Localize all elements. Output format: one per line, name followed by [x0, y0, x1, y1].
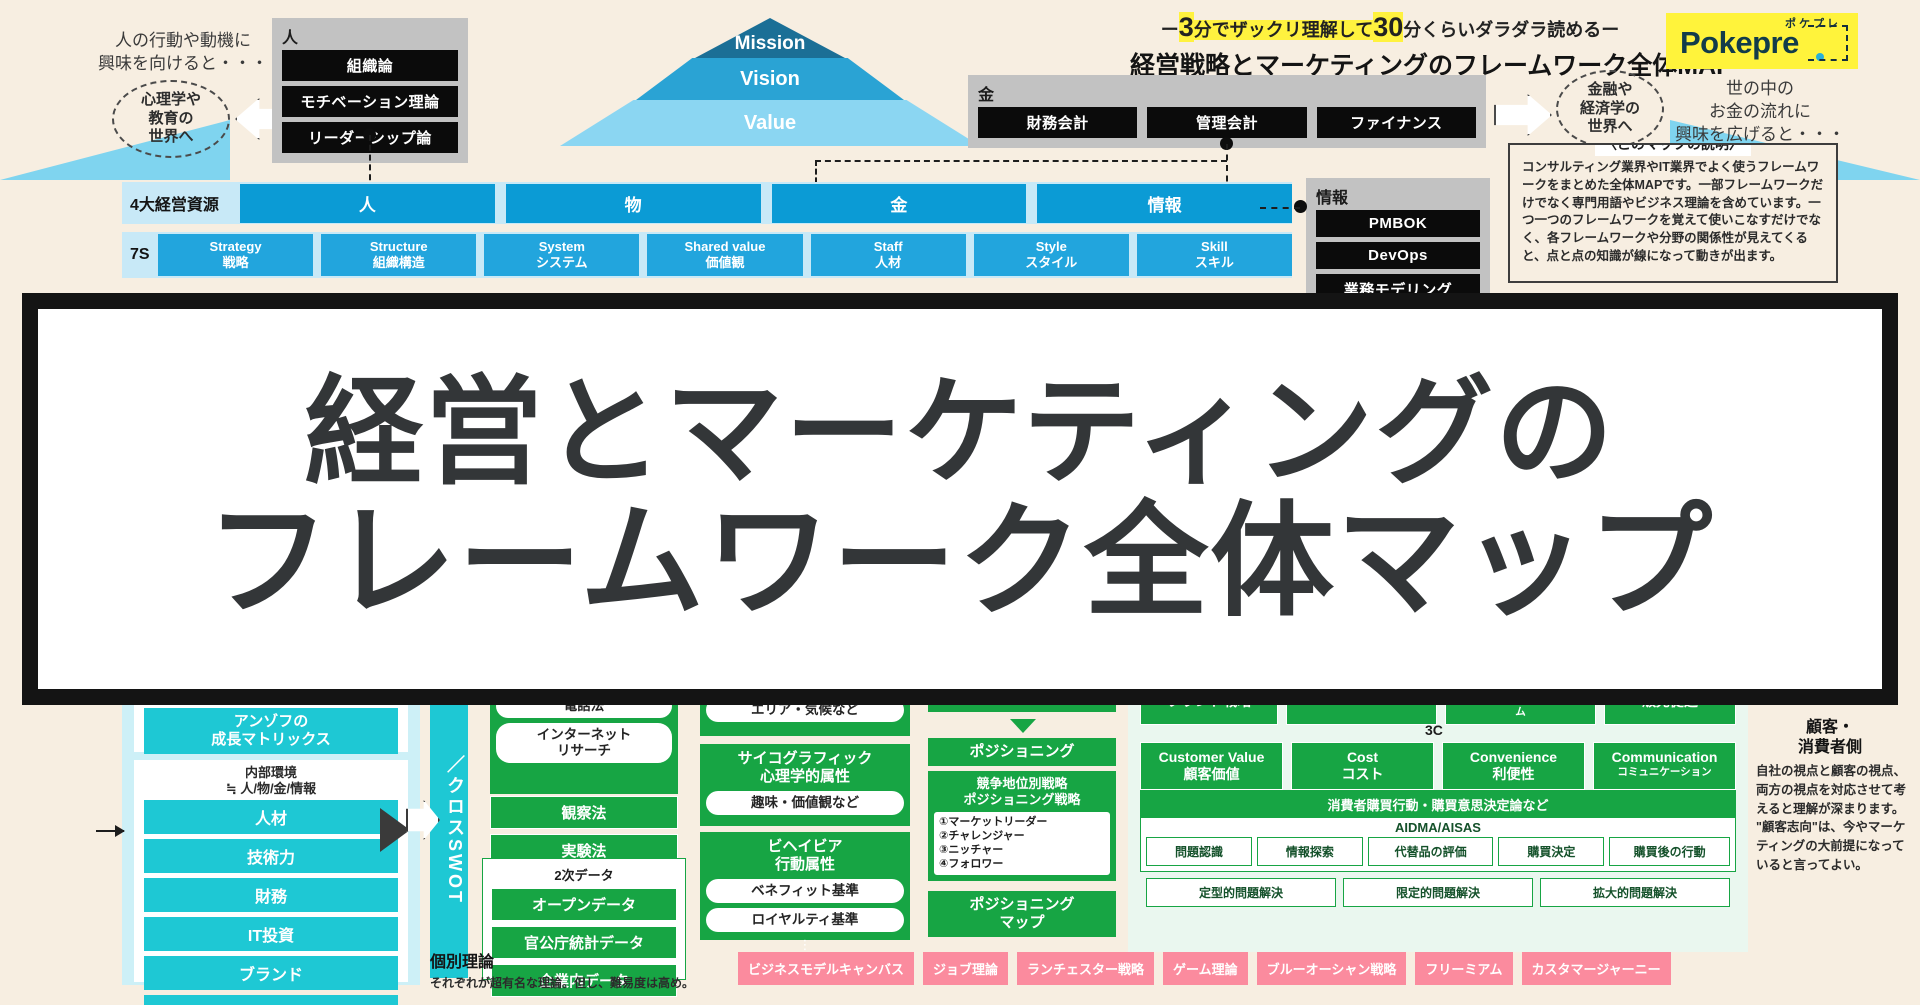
seven-s-cell-strategy[interactable]: Strategy 戦略: [158, 234, 313, 277]
consumer-steps-row: 問題認識 情報探索 代替品の評価 購買決定 購買後の行動: [1141, 837, 1735, 866]
overlay-title-line1: 経営とマーケティングの: [305, 371, 1616, 494]
cross-swot-bar[interactable]: ／クロスSWOT: [430, 678, 468, 978]
internal-item-brand[interactable]: ブランド: [144, 956, 398, 990]
chip-ansoff-matrix[interactable]: アンゾフの 成長マトリックス: [144, 708, 398, 754]
box-convenience[interactable]: Convenience 利便性: [1442, 742, 1585, 790]
connector-line-money-h: [815, 160, 1227, 162]
band-label-seven-s: 7S: [122, 246, 158, 264]
individual-theories-sub: それぞれが超有名な理論。但し、難易度は高め。: [430, 974, 694, 991]
seven-s-band: 7S Strategy 戦略 Structure 組織構造 System システ…: [122, 232, 1292, 278]
positioning-map-card[interactable]: ポジショニング マップ: [928, 891, 1116, 937]
box-cost[interactable]: Cost コスト: [1291, 742, 1434, 790]
chip-lanchester-strategy[interactable]: ランチェスター戦略: [1017, 952, 1154, 985]
competitive-position-card: 競争地位別戦略 ポジショニング戦略 ①マーケットリーダー ②チャレンジャー ③ニ…: [928, 771, 1116, 881]
box-customer-value[interactable]: Customer Value 顧客価値: [1140, 742, 1283, 790]
resource-cell-money[interactable]: 金: [772, 184, 1027, 223]
header-tagline: ー3分でザックリ理解して30分くらいダラダラ読めるー: [1130, 12, 1650, 43]
logo-wordmark: Pokepre: [1680, 25, 1799, 61]
pill-hobby-values[interactable]: 趣味・価値観など: [706, 791, 904, 815]
chip-zaimu-kaikei[interactable]: 財務会計: [978, 107, 1137, 138]
seven-s-cell-shared-value[interactable]: Shared value 価値観: [647, 234, 802, 277]
triangle-down-positioning-icon: [1010, 719, 1036, 733]
problem-solving-row: 定型的問題解決 限定的問題解決 拡大的問題解決: [1146, 878, 1730, 907]
pyramid-vision: Vision: [636, 58, 904, 100]
internal-item-gijutsu[interactable]: 技術力: [144, 839, 398, 873]
internal-environment-caption: 内部環境 ≒ 人/物/金/情報: [144, 762, 398, 800]
competitive-position-list: ①マーケットリーダー ②チャレンジャー ③ニッチャー ④フォロワー: [933, 811, 1111, 875]
pill-internet-research[interactable]: インターネット リサーチ: [496, 723, 672, 763]
behavior-title: ビヘイビア 行動属性: [706, 838, 904, 879]
internal-item-zaimu[interactable]: 財務: [144, 878, 398, 912]
group-label-money: 金: [978, 81, 1476, 105]
triangle-to-cross-swot-icon: [380, 808, 410, 852]
tagline-mid-2: 分くらいダラダラ読めるー: [1403, 20, 1619, 40]
step-purchase-decision[interactable]: 購買決定: [1498, 837, 1604, 866]
internal-environment-panel: アンゾフの 成長マトリックス 内部環境 ≒ 人/物/金/情報 人材 技術力 財務…: [122, 700, 420, 985]
customer-side-title: 顧客・ 消費者側: [1762, 718, 1898, 758]
positioning-block: ポジショニング 競争地位別戦略 ポジショニング戦略 ①マーケットリーダー ②チャ…: [928, 738, 1116, 937]
box-extended-problem-solving[interactable]: 拡大的問題解決: [1540, 878, 1730, 907]
overlay-title-line2: フレームワーク全体マップ: [206, 498, 1714, 627]
marketing-mix-row2: Customer Value 顧客価値 Cost コスト Convenience…: [1140, 742, 1736, 790]
internal-item-it-toushi[interactable]: IT投資: [144, 917, 398, 951]
internal-items-card: 内部環境 ≒ 人/物/金/情報 人材 技術力 財務 IT投資 ブランド カルチャ…: [134, 760, 408, 982]
psychographic-title: サイコグラフィック 心理学的属性: [706, 750, 904, 791]
label-3c: 3C: [1425, 722, 1443, 738]
step-information-search[interactable]: 情報探索: [1257, 837, 1363, 866]
left-note-bubble: 心理学や 教育の 世界へ: [112, 80, 230, 158]
chip-kanri-kaikei[interactable]: 管理会計: [1147, 107, 1306, 138]
logo-bracket-icon: [1808, 25, 1848, 61]
header-title-block: ー3分でザックリ理解して30分くらいダラダラ読めるー 経営戦略とマーケティングの…: [1130, 12, 1650, 82]
right-note-bubble: 金融や 経済学の 世界へ: [1556, 70, 1664, 148]
step-alternative-evaluation[interactable]: 代替品の評価: [1368, 837, 1494, 866]
chip-customer-journey[interactable]: カスタマージャーニー: [1522, 952, 1671, 985]
four-resources-band: 4大経営資源 人 物 金 情報: [122, 182, 1292, 224]
aidma-label: AIDMA/AISAS: [1141, 818, 1735, 837]
resource-cell-information[interactable]: 情報: [1037, 184, 1292, 223]
map-explanation-box: 〈このマップの説明〉 コンサルティング業界やIT業界でよく使うフレームワークをま…: [1508, 143, 1838, 283]
seven-s-cell-staff[interactable]: Staff 人材: [811, 234, 966, 277]
lower-diagram-region: アンゾフの 成長マトリックス 内部環境 ≒ 人/物/金/情報 人材 技術力 財務…: [0, 700, 1920, 1005]
chip-game-theory[interactable]: ゲーム理論: [1163, 952, 1248, 985]
box-routine-problem-solving[interactable]: 定型的問題解決: [1146, 878, 1336, 907]
resource-cell-things[interactable]: 物: [506, 184, 761, 223]
customer-side-body: 自社の視点と顧客の視点、両方の視点を対応させて考えると理解が深まります。 "顧客…: [1756, 762, 1908, 875]
chip-kansatsu-hou[interactable]: 観察法: [490, 796, 678, 829]
title-overlay-banner: 経営とマーケティングの フレームワーク全体マップ: [22, 293, 1898, 705]
step-problem-recognition[interactable]: 問題認識: [1146, 837, 1252, 866]
arrow-right-icon: [1494, 94, 1552, 136]
chip-finance[interactable]: ファイナンス: [1317, 107, 1476, 138]
chip-pmbok[interactable]: PMBOK: [1316, 210, 1480, 237]
connector-line-information: [1260, 207, 1300, 209]
seven-s-cell-style[interactable]: Style スタイル: [974, 234, 1129, 277]
group-label-people: 人: [282, 24, 458, 48]
tagline-mid-1: 分でザックリ理解して: [1194, 20, 1373, 40]
seven-s-cell-structure[interactable]: Structure 組織構造: [321, 234, 476, 277]
tagline-number-3: 3: [1179, 12, 1194, 42]
pill-loyalty-basis[interactable]: ロイヤルティ基準: [706, 908, 904, 932]
right-note-caption: 世の中の お金の流れに 興味を広げると・・・: [1670, 78, 1850, 147]
pill-benefit-basis[interactable]: ベネフィット基準: [706, 879, 904, 903]
individual-theories-label: 個別理論 それぞれが超有名な理論。但し、難易度は高め。: [430, 948, 694, 991]
chip-business-model-canvas[interactable]: ビジネスモデルキャンバス: [738, 952, 914, 985]
left-note-caption: 人の行動や動機に 興味を向けると・・・: [88, 30, 278, 76]
individual-theories-title: 個別理論: [430, 948, 694, 972]
pyramid-value: Value: [560, 100, 980, 146]
infographic-canvas: 人の行動や動機に 興味を向けると・・・ 心理学や 教育の 世界へ 人 組織論 モ…: [0, 0, 1920, 1005]
mission-vision-value-pyramid: Mission Vision Value: [560, 18, 980, 146]
chip-freemium[interactable]: フリーミアム: [1415, 952, 1512, 985]
chip-blue-ocean-strategy[interactable]: ブルーオーシャン戦略: [1257, 952, 1407, 985]
secondary-data-title: 2次データ: [491, 863, 677, 888]
map-explanation-body: コンサルティング業界やIT業界でよく使うフレームワークをまとめた全体MAPです。…: [1522, 159, 1826, 266]
step-post-purchase[interactable]: 購買後の行動: [1609, 837, 1730, 866]
box-communication[interactable]: Communication コミュニケーション: [1593, 742, 1736, 790]
psychographic-segment-panel: サイコグラフィック 心理学的属性 趣味・価値観など: [700, 744, 910, 826]
resource-cell-people[interactable]: 人: [240, 184, 495, 223]
internal-item-jinzai[interactable]: 人材: [144, 800, 398, 834]
seven-s-cell-skill[interactable]: Skill スキル: [1137, 234, 1292, 277]
behavior-ellipsis: ⋮: [706, 937, 904, 953]
competitive-position-title: 競争地位別戦略 ポジショニング戦略: [933, 776, 1111, 811]
chip-open-data[interactable]: オープンデータ: [491, 888, 677, 921]
pokepre-logo[interactable]: ポケプレ Pokepre: [1666, 13, 1858, 69]
individual-theories-chips: ビジネスモデルキャンバス ジョブ理論 ランチェスター戦略 ゲーム理論 ブルーオー…: [738, 952, 1671, 985]
consumer-behavior-header: 消費者購買行動・購買意思決定論など: [1141, 791, 1735, 818]
arrow-into-internal-panel: [96, 830, 124, 832]
box-limited-problem-solving[interactable]: 限定的問題解決: [1343, 878, 1533, 907]
consumer-behavior-card: 消費者購買行動・購買意思決定論など AIDMA/AISAS 問題認識 情報探索 …: [1140, 790, 1736, 872]
chip-soshikiron[interactable]: 組織論: [282, 50, 458, 81]
group-label-information: 情報: [1316, 184, 1480, 208]
chip-jobs-theory[interactable]: ジョブ理論: [923, 952, 1008, 985]
chip-devops[interactable]: DevOps: [1316, 242, 1480, 269]
behavior-segment-panel: ビヘイビア 行動属性 ベネフィット基準 ロイヤルティ基準 ⋮: [700, 832, 910, 940]
chip-motivation[interactable]: モチベーション理論: [282, 86, 458, 117]
tagline-number-30: 30: [1373, 12, 1403, 42]
band-label-four-resources: 4大経営資源: [122, 191, 240, 215]
map-explanation-caption: 〈このマップの説明〉: [1595, 143, 1751, 156]
seven-s-cell-system[interactable]: System システム: [484, 234, 639, 277]
pyramid-mission: Mission: [695, 18, 845, 58]
internal-item-culture[interactable]: カルチャー: [144, 995, 398, 1005]
positioning-title[interactable]: ポジショニング: [928, 738, 1116, 766]
